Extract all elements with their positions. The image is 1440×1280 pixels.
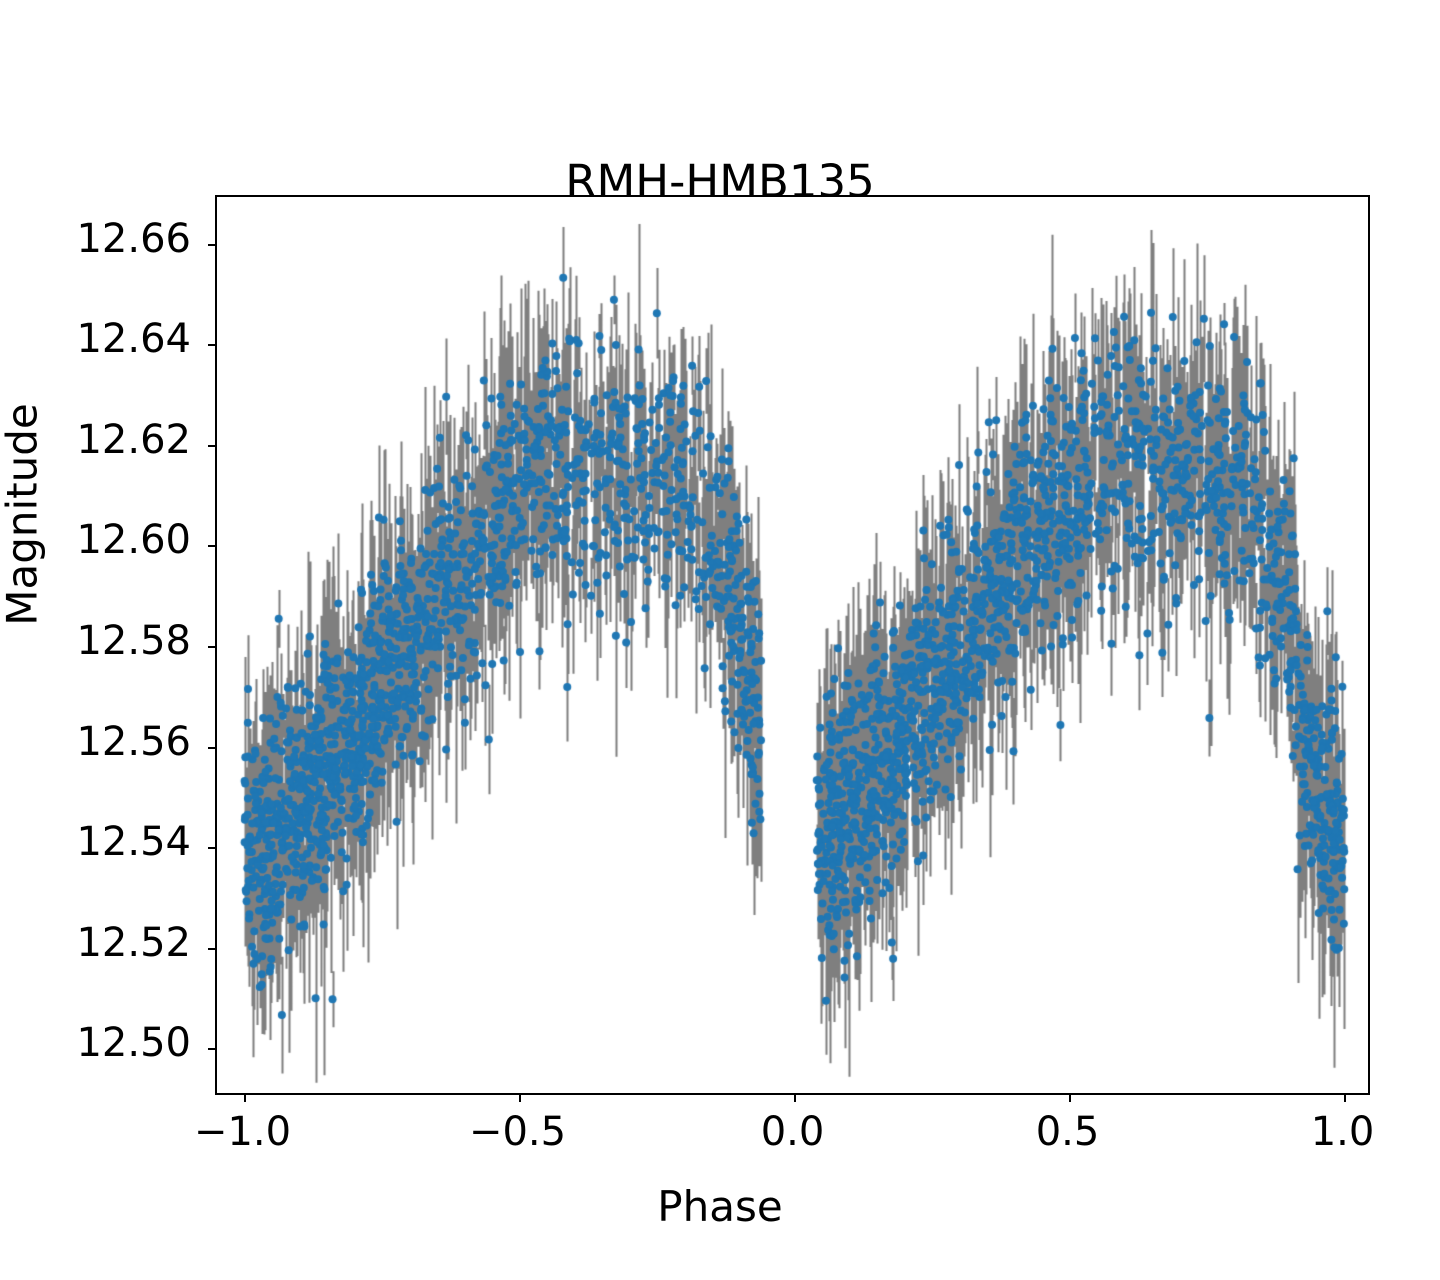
x-tick-mark [1344, 1093, 1346, 1102]
x-tick-mark [794, 1093, 796, 1102]
y-tick-mark [208, 948, 217, 950]
y-tick-mark [208, 445, 217, 447]
x-tick-mark [519, 1093, 521, 1102]
plot-area [215, 195, 1370, 1095]
x-tick-label: −1.0 [153, 1109, 333, 1155]
x-tick-label: 0.0 [703, 1109, 883, 1155]
x-tick-label: 0.5 [978, 1109, 1158, 1155]
x-tick-mark [244, 1093, 246, 1102]
y-tick-label: 12.66 [0, 216, 191, 262]
y-tick-mark [208, 244, 217, 246]
x-tick-mark [1069, 1093, 1071, 1102]
y-tick-mark [208, 344, 217, 346]
y-tick-mark [208, 747, 217, 749]
y-axis-label: Magnitude [0, 360, 47, 670]
x-axis-label: Phase [0, 1182, 1440, 1231]
y-tick-label: 12.54 [0, 819, 191, 865]
figure-root: RMH-HMB135 Star 8557, p: 0.19932 d (OWN)… [0, 0, 1440, 1280]
x-tick-label: 1.0 [1253, 1109, 1433, 1155]
y-tick-mark [208, 1048, 217, 1050]
y-tick-label: 12.52 [0, 920, 191, 966]
y-tick-mark [208, 847, 217, 849]
y-tick-label: 12.56 [0, 719, 191, 765]
y-tick-mark [208, 545, 217, 547]
y-tick-mark [208, 646, 217, 648]
y-tick-label: 12.50 [0, 1020, 191, 1066]
scatter-data-canvas [217, 197, 1372, 1097]
x-tick-label: −0.5 [428, 1109, 608, 1155]
y-tick-label: 12.64 [0, 316, 191, 362]
